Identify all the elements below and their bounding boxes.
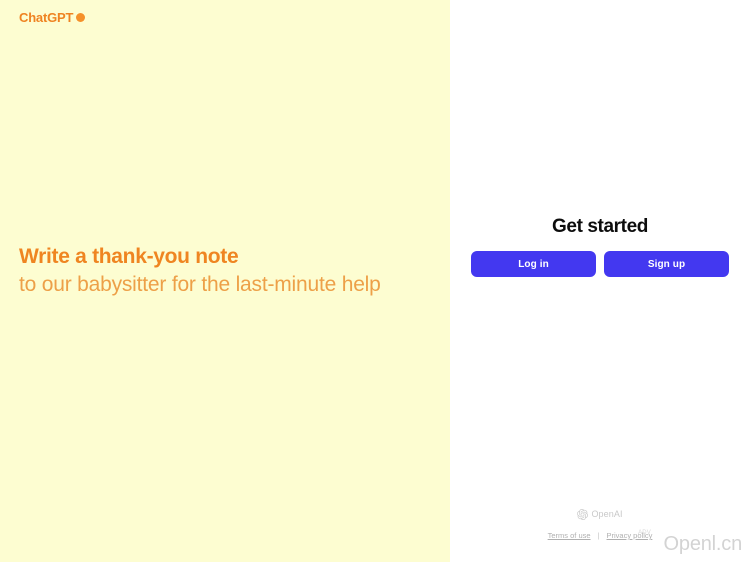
terms-of-use-link[interactable]: Terms of use <box>548 531 591 540</box>
prompt-subline: to our babysitter for the last-minute he… <box>19 271 419 299</box>
chatgpt-logo: ChatGPT <box>19 11 85 24</box>
signup-button[interactable]: Sign up <box>604 251 729 277</box>
prompt-headline: Write a thank-you note <box>19 243 419 271</box>
watermark: Openl.cn <box>664 532 742 556</box>
link-separator: | <box>598 531 600 540</box>
orange-dot-icon <box>76 13 85 22</box>
auth-panel: Get started Log in Sign up OpenAI Terms … <box>450 0 750 562</box>
login-page: ChatGPT Write a thank-you note to our ba… <box>0 0 750 562</box>
openai-branding: OpenAI <box>450 509 750 520</box>
openai-logo-icon <box>577 509 588 520</box>
watermark-badge: ADV <box>638 530 651 536</box>
promo-panel: ChatGPT Write a thank-you note to our ba… <box>0 0 450 562</box>
page-title: Get started <box>450 216 750 238</box>
openai-name: OpenAI <box>591 509 622 520</box>
brand-name: ChatGPT <box>19 11 73 24</box>
login-button[interactable]: Log in <box>471 251 596 277</box>
example-prompt: Write a thank-you note to our babysitter… <box>19 243 419 299</box>
get-started-section: Get started Log in Sign up <box>450 216 750 277</box>
auth-button-group: Log in Sign up <box>450 251 750 277</box>
